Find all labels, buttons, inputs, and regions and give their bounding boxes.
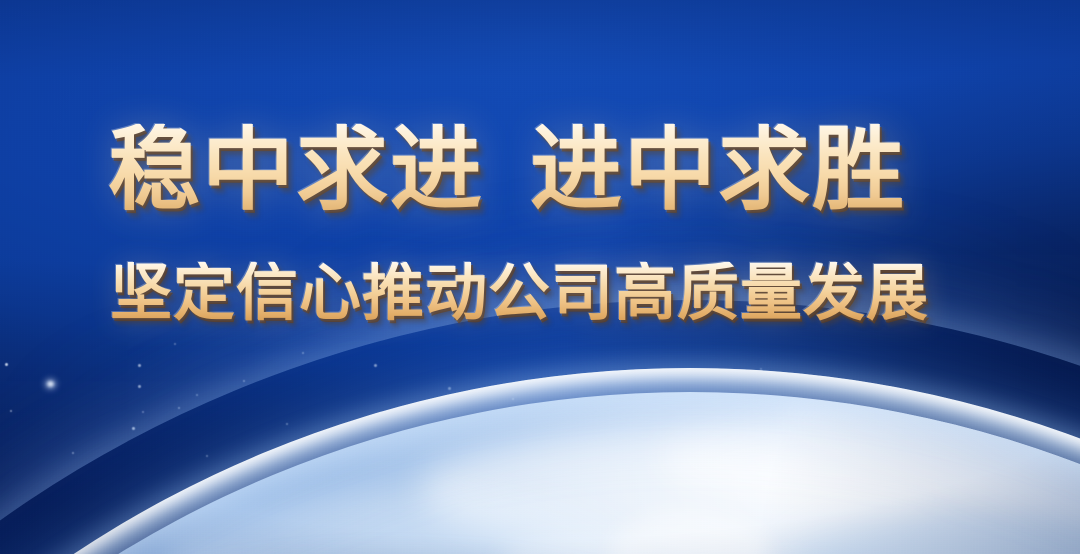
poster-banner: 稳中求进 进中求胜 坚定信心推动公司高质量发展 [0, 0, 1080, 554]
subheadline: 坚定信心推动公司高质量发展 [110, 262, 929, 324]
headline-row: 稳中求进 进中求胜 [108, 124, 906, 216]
headline-phrase-2: 进中求胜 [530, 124, 906, 216]
headline-phrase-1: 稳中求进 [108, 124, 484, 216]
